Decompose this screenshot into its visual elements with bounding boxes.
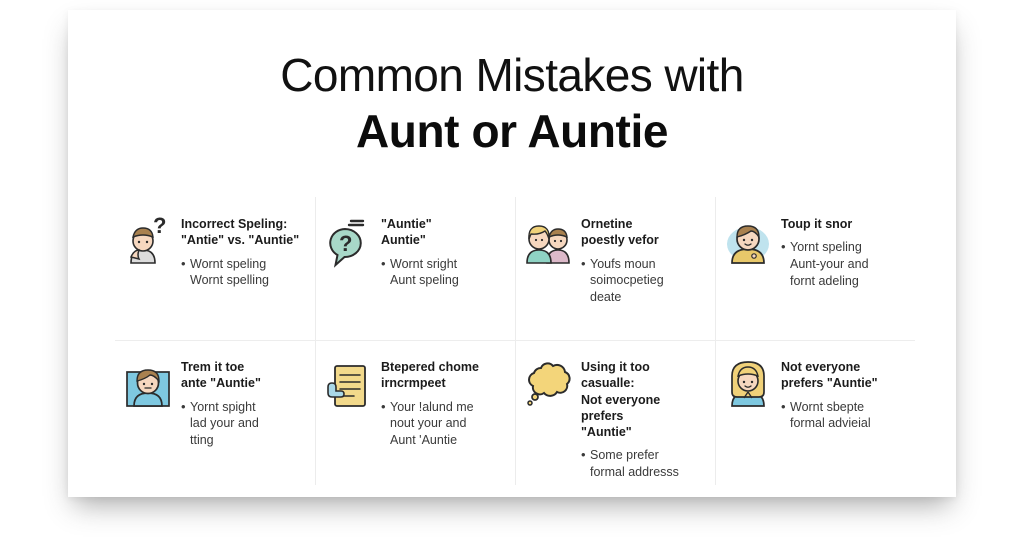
bullet-text: Yornt speling Aunt-your and fornt adelin… (790, 239, 905, 289)
bullet-marker: • (781, 239, 790, 289)
bullet-text: Yornt spight lad your and tting (190, 399, 305, 449)
person-yellow-shirt-icon (723, 213, 775, 269)
mistake-heading-8: Not everyone prefers "Auntie" (781, 359, 905, 392)
bullet-text: Youfs moun soimocpetieg deate (590, 256, 705, 306)
bullet-text: Some prefer formal addresss (590, 447, 705, 481)
mistake-heading-7: Using it too casualle: Not everyone pref… (581, 359, 705, 440)
bullet-text: Wornt speling Wornt spelling (190, 256, 305, 290)
mistake-cell-2[interactable]: ? "Auntie" Auntie" • Wornt sright Aunt s… (315, 197, 515, 340)
mistake-cell-5[interactable]: Trem it toe ante "Auntie" • Yornt spight… (115, 340, 315, 485)
mistake-cell-8[interactable]: Not everyone prefers "Auntie" • Wornt sb… (715, 340, 915, 485)
mistake-bullet-8: • Wornt sbepte formal advieial (781, 399, 905, 433)
bullet-text: Your !alund me nout your and Aunt 'Aunti… (390, 399, 505, 449)
thinking-person-icon: ? (123, 213, 175, 269)
mistake-bullet-4: • Yornt speling Aunt-your and fornt adel… (781, 239, 905, 289)
bullet-marker: • (381, 399, 390, 449)
mistake-heading-5: Trem it toe ante "Auntie" (181, 359, 305, 392)
bullet-text: Wornt sright Aunt speling (390, 256, 505, 290)
mistake-text-5: Trem it toe ante "Auntie" • Yornt spight… (181, 356, 305, 449)
svg-text:?: ? (339, 231, 352, 256)
mistakes-grid: ? Incorrect Speling: "Antie" vs. "Auntie… (115, 197, 915, 485)
mistake-text-7: Using it too casualle: Not everyone pref… (581, 356, 705, 481)
mistake-text-8: Not everyone prefers "Auntie" • Wornt sb… (781, 356, 905, 432)
mistake-text-3: Ornetine poestly vefor • Youfs moun soim… (581, 213, 705, 306)
mistake-bullet-6: • Your !alund me nout your and Aunt 'Aun… (381, 399, 505, 449)
mistake-text-6: Btepered chome irncrmpeet • Your !alund … (381, 356, 505, 449)
mistake-cell-3[interactable]: Ornetine poestly vefor • Youfs moun soim… (515, 197, 715, 340)
mistake-heading-1: Incorrect Speling: "Antie" vs. "Auntie" (181, 216, 305, 249)
page-title: Common Mistakes with Aunt or Auntie (68, 48, 956, 162)
bullet-marker: • (181, 399, 190, 449)
person-blue-shirt-icon (123, 356, 175, 412)
infographic-card: Common Mistakes with Aunt or Auntie ? In… (68, 10, 956, 497)
speech-bubble-question-icon: ? (323, 213, 375, 269)
bullet-marker: • (781, 399, 790, 433)
mistake-bullet-3: • Youfs moun soimocpetieg deate (581, 256, 705, 306)
bullet-marker: • (381, 256, 390, 290)
bullet-marker: • (581, 256, 590, 306)
bullet-marker: • (581, 447, 590, 481)
mistake-cell-7[interactable]: Using it too casualle: Not everyone pref… (515, 340, 715, 485)
mistake-text-4: Toup it snor • Yornt speling Aunt-your a… (781, 213, 905, 290)
woman-blonde-icon (723, 356, 775, 412)
mistake-bullet-5: • Yornt spight lad your and tting (181, 399, 305, 449)
mistake-text-2: "Auntie" Auntie" • Wornt sright Aunt spe… (381, 213, 505, 289)
svg-text:?: ? (153, 213, 166, 238)
bullet-text: Wornt sbepte formal advieial (790, 399, 905, 433)
mistake-text-1: Incorrect Speling: "Antie" vs. "Auntie" … (181, 213, 305, 289)
mistake-heading-4: Toup it snor (781, 216, 905, 232)
mistake-bullet-2: • Wornt sright Aunt speling (381, 256, 505, 290)
thought-cloud-icon (523, 356, 575, 412)
two-people-icon (523, 213, 575, 269)
mistake-heading-3: Ornetine poestly vefor (581, 216, 705, 249)
mistake-bullet-1: • Wornt speling Wornt spelling (181, 256, 305, 290)
mistake-bullet-7: • Some prefer formal addresss (581, 447, 705, 481)
title-line-primary: Common Mistakes with (68, 48, 956, 102)
bullet-marker: • (181, 256, 190, 290)
mistake-cell-1[interactable]: ? Incorrect Speling: "Antie" vs. "Auntie… (115, 197, 315, 340)
document-hand-icon (323, 356, 375, 412)
mistake-cell-6[interactable]: Btepered chome irncrmpeet • Your !alund … (315, 340, 515, 485)
mistake-heading-6: Btepered chome irncrmpeet (381, 359, 505, 392)
mistake-heading-2: "Auntie" Auntie" (381, 216, 505, 249)
mistake-cell-4[interactable]: Toup it snor • Yornt speling Aunt-your a… (715, 197, 915, 340)
title-line-secondary: Aunt or Auntie (68, 102, 956, 162)
